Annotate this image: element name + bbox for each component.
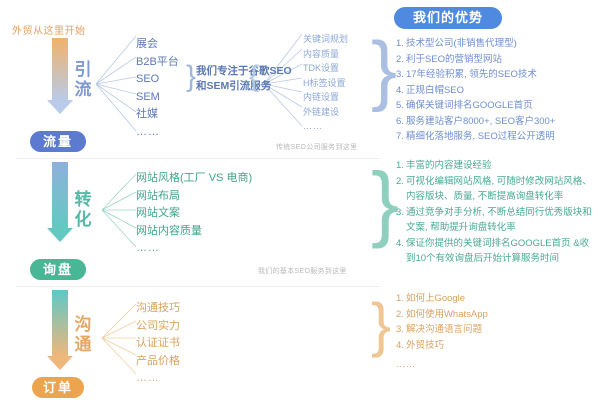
list-item: 展会 (136, 36, 179, 54)
item-text: 通过竞争对手分析, 不断总结同行优秀版块和文案, 帮助提升询盘转化率 (406, 205, 596, 236)
advantages-list-traffic: 1. 技术型公司(非销售代理型) 2. 利于SEO的营销型网站 3. 17年经验… (396, 36, 596, 145)
flow-arrow-order (52, 290, 68, 370)
item-number: 1. (396, 36, 404, 52)
item-number: 2. (396, 52, 404, 68)
list-item: 网站内容质量 (136, 223, 252, 241)
advantages-title-pill: 我们的优势 (394, 7, 502, 29)
brace-advantages-blue: } (371, 30, 397, 108)
item-number: 7. (396, 129, 404, 145)
list-item: B2B平台 (136, 54, 179, 72)
stage-label-traffic: 引流 (72, 60, 94, 100)
list-item: 外链建设 (303, 105, 348, 120)
list-item: 4. 保证你提供的关键词排名GOOGLE首页 &收到10个有效询盘后开始计算服务… (396, 236, 596, 267)
list-item: 网站风格(工厂 VS 电商) (136, 170, 252, 188)
list-item: 网站文案 (136, 205, 252, 223)
list-item: 网站布局 (136, 188, 252, 206)
list-item: 4. 外贸技巧 (396, 338, 596, 354)
item-text: 精细化落地服务, SEO过程公开透明 (406, 129, 596, 145)
list-item: 3. 17年经验积累, 领先的SEO技术 (396, 67, 596, 83)
seo-focus-annotation: 我们专注于谷歌SEO 和SEM引流服务 (196, 64, 292, 94)
list-item: TDK设置 (303, 61, 348, 76)
item-number: 3. (396, 67, 404, 83)
communication-factor-list: 沟通技巧 公司实力 认证证书 产品价格 …… (136, 300, 180, 388)
list-item: 内容质量 (303, 47, 348, 62)
caption-traditional-seo-scope: 传统SEO公司服务到这里 (276, 142, 357, 152)
item-text: 确保关键词排名GOOGLE首页 (406, 98, 596, 114)
list-item: 3. 解决沟通语言问题 (396, 322, 596, 338)
item-number: 1. (396, 291, 404, 307)
caption-basic-seo-scope: 我们的基本SEO服务到这里 (258, 266, 347, 276)
list-item: 2. 如何使用WhatsApp (396, 307, 596, 323)
list-item: H标签设置 (303, 76, 348, 91)
seo-subtask-list: 关键词规划 内容质量 TDK设置 H标签设置 内链设置 外链建设 …… (303, 32, 348, 134)
list-item: 内链设置 (303, 90, 348, 105)
stage-label-inquiry: 转化 (72, 190, 94, 230)
list-item: 社媒 (136, 106, 179, 124)
flow-arrow-inquiry (52, 162, 68, 242)
advantages-list-conversion: 1. 丰富的内容建设经验 2. 可视化编辑网站风格, 可随时修改网站风格、内容版… (396, 158, 596, 267)
item-text: 17年经验积累, 领先的SEO技术 (406, 67, 596, 83)
list-item: 产品价格 (136, 353, 180, 371)
item-number: 4. (396, 338, 404, 354)
brace-advantages-orange: } (371, 295, 391, 355)
list-item: SEO (136, 71, 179, 89)
brace-seo-sem: } (186, 62, 196, 92)
item-number: 2. (396, 307, 404, 323)
item-text: 可视化编辑网站风格, 可随时修改网站风格、内容版块、质量, 不断提高询盘转化率 (406, 174, 596, 205)
stage-badge-inquiry: 询盘 (30, 259, 86, 280)
item-number: 5. (396, 98, 404, 114)
list-item: 1. 丰富的内容建设经验 (396, 158, 596, 174)
stage-badge-order: 订单 (32, 377, 84, 398)
stage-badge-traffic: 流量 (30, 131, 86, 152)
item-text: 保证你提供的关键词排名GOOGLE首页 &收到10个有效询盘后开始计算服务时间 (406, 236, 596, 267)
item-text: 技术型公司(非销售代理型) (406, 36, 596, 52)
traffic-channel-list: 展会 B2B平台 SEO SEM 社媒 …… (136, 36, 179, 141)
list-item: 1. 技术型公司(非销售代理型) (396, 36, 596, 52)
list-item: 6. 服务建站客户8000+, SEO客户300+ (396, 114, 596, 130)
item-number: 6. (396, 114, 404, 130)
brace-annotation-right: } (249, 62, 259, 92)
annotation-line-2: 和SEM引流服务 (196, 79, 292, 94)
list-item: 2. 利于SEO的营销型网站 (396, 52, 596, 68)
list-item-ellipsis: …… (136, 124, 179, 142)
item-text: 外贸技巧 (406, 338, 596, 354)
brace-advantages-green: } (371, 160, 399, 244)
list-item-ellipsis: …… (303, 119, 348, 134)
list-item-ellipsis: …… (136, 370, 180, 388)
list-item: 关键词规划 (303, 32, 348, 47)
list-item-ellipsis: …… (136, 240, 252, 258)
flow-arrow-traffic (52, 38, 68, 114)
item-text: 如何使用WhatsApp (406, 307, 596, 323)
stage-label-order: 沟通 (72, 315, 94, 355)
list-item: 1. 如何上Google (396, 291, 596, 307)
list-item: 2. 可视化编辑网站风格, 可随时修改网站风格、内容版块、质量, 不断提高询盘转… (396, 174, 596, 205)
item-text: 解决沟通语言问题 (406, 322, 596, 338)
item-number: 3. (396, 205, 404, 236)
advantages-list-communication: 1. 如何上Google 2. 如何使用WhatsApp 3. 解决沟通语言问题… (396, 291, 596, 369)
item-text: 丰富的内容建设经验 (406, 158, 596, 174)
item-text: 服务建站客户8000+, SEO客户300+ (406, 114, 596, 130)
list-item: SEM (136, 89, 179, 107)
infographic-canvas: 外贸从这里开始 流量 询盘 订单 引流 转化 沟通 (0, 0, 600, 400)
list-item: 3. 通过竞争对手分析, 不断总结同行优秀版块和文案, 帮助提升询盘转化率 (396, 205, 596, 236)
list-item: 认证证书 (136, 335, 180, 353)
item-number: 2. (396, 174, 404, 205)
list-item-ellipsis: …… (396, 359, 596, 369)
section-divider-2 (16, 286, 380, 287)
item-text: 利于SEO的营销型网站 (406, 52, 596, 68)
item-text: 正规白帽SEO (406, 83, 596, 99)
fan-lines-convert (100, 170, 138, 252)
list-item: 5. 确保关键词排名GOOGLE首页 (396, 98, 596, 114)
item-number: 4. (396, 236, 404, 267)
list-item: 沟通技巧 (136, 300, 180, 318)
annotation-line-1: 我们专注于谷歌SEO (196, 64, 292, 79)
item-number: 1. (396, 158, 404, 174)
list-item: 7. 精细化落地服务, SEO过程公开透明 (396, 129, 596, 145)
fan-lines-comm (100, 300, 138, 380)
fan-lines-traffic (94, 32, 138, 136)
flow-start-label: 外贸从这里开始 (12, 22, 86, 37)
item-text: 如何上Google (406, 291, 596, 307)
item-number: 3. (396, 322, 404, 338)
conversion-factor-list: 网站风格(工厂 VS 电商) 网站布局 网站文案 网站内容质量 …… (136, 170, 252, 258)
list-item: 4. 正规白帽SEO (396, 83, 596, 99)
section-divider-1 (16, 158, 380, 159)
list-item: 公司实力 (136, 318, 180, 336)
item-number: 4. (396, 83, 404, 99)
